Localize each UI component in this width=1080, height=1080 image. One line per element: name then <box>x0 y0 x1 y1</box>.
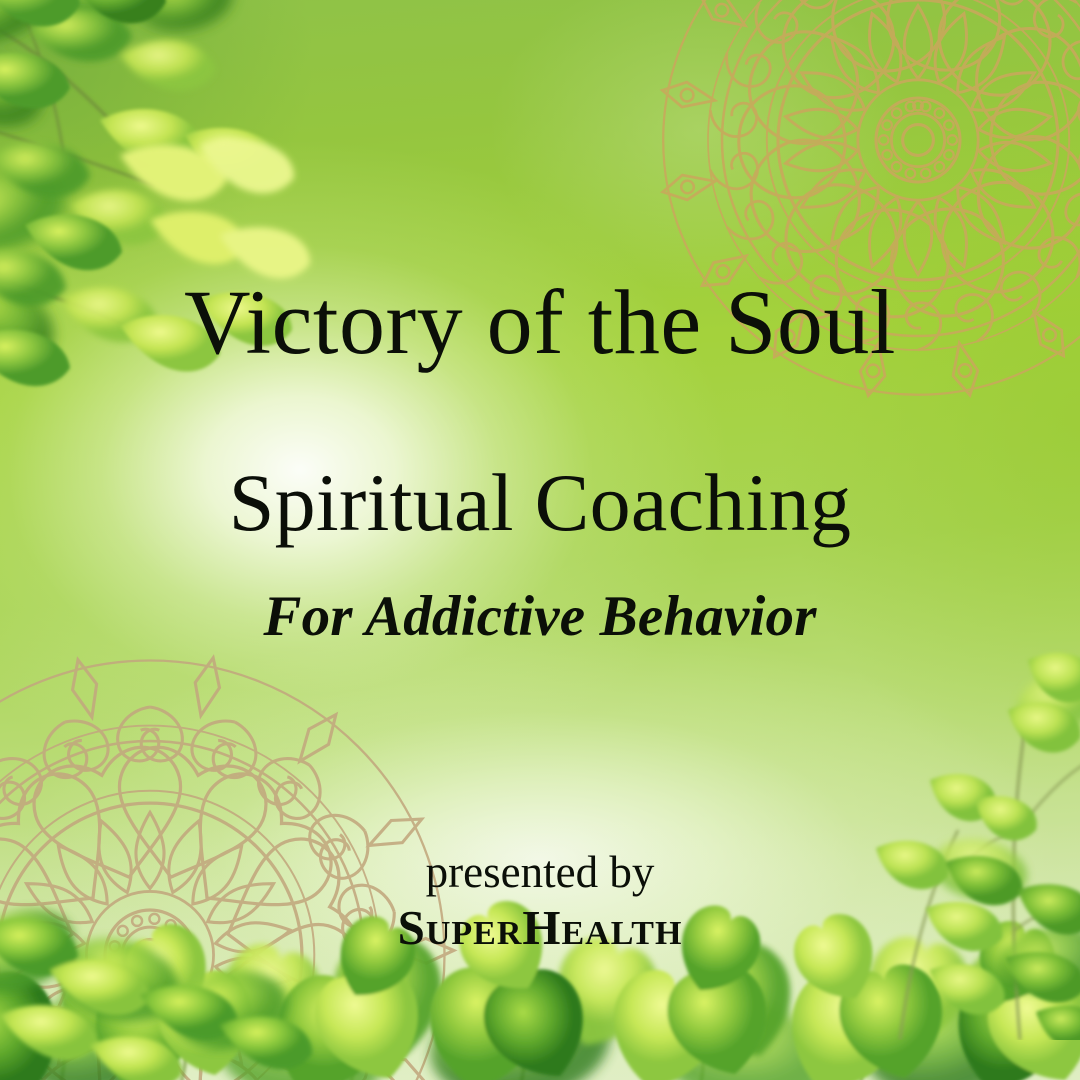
leaf-branch-bottom-right <box>780 640 1080 1040</box>
page-tagline: For Addictive Behavior <box>0 588 1080 645</box>
poster-canvas: Victory of the Soul Spiritual Coaching F… <box>0 0 1080 1080</box>
page-title: Victory of the Soul <box>0 276 1080 368</box>
presented-by-label: presented by <box>0 850 1080 895</box>
brand-name: SuperHealth <box>0 903 1080 952</box>
page-subtitle: Spiritual Coaching <box>0 462 1080 544</box>
